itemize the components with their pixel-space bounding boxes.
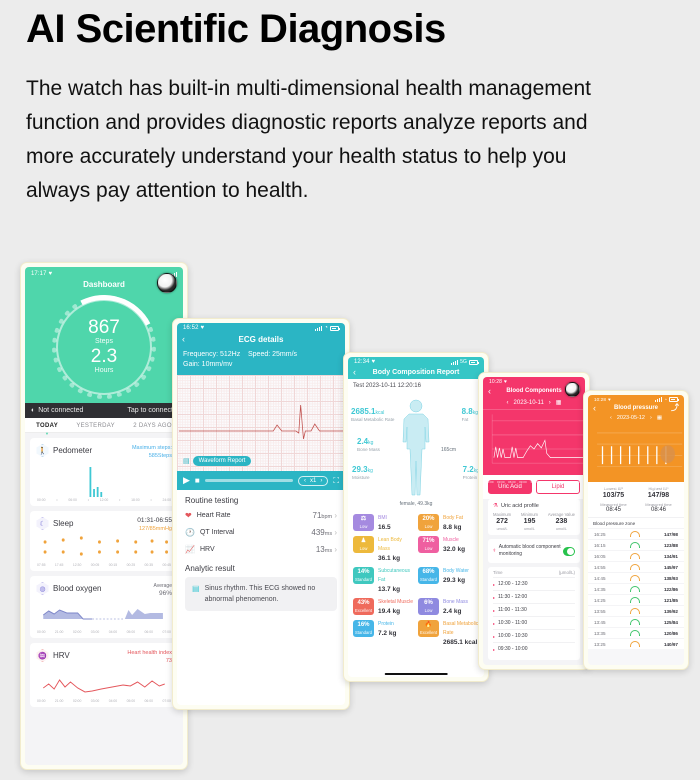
moisture-unit: kg: [368, 468, 373, 474]
axis-tick: 05:00: [127, 630, 136, 634]
blood-pressure-chart[interactable]: 00:00 03:00 06:00 09:00 12:00 15:00 18:0…: [588, 424, 684, 482]
table-row[interactable]: 16:25 147/98: [588, 528, 684, 539]
body-composition-header: 12:34 ♥ 5G ‹ Body Composition Report: [348, 357, 484, 379]
callout-fat: 8.8kg Fat: [462, 409, 478, 423]
hours-label: Hours: [95, 367, 114, 374]
axis-tick: 00:05: [91, 563, 100, 567]
body-water-name: Body Water: [443, 567, 469, 576]
metabolic-grade: Excellent: [418, 630, 439, 636]
axis-tick: 21:00: [55, 630, 64, 634]
blood-pressure-screen: 10:28 ♥ ◔ ‹ Blood pressure ⤴ ‹: [588, 395, 684, 665]
gauge-icon: [630, 575, 640, 581]
axis-tick: 00:00: [37, 630, 46, 634]
metrics-grid: ⚖Low BMI 16.5 20%Low Body Fat 8.8 kg: [348, 509, 484, 652]
sleep-range: 01:31-06:55: [137, 517, 172, 525]
steps-value: 867: [88, 318, 120, 338]
ecg-parameters: Frequency: 512Hz Speed: 25mm/s Gain: 10m…: [177, 347, 345, 375]
axis-tick: 00:15: [109, 563, 118, 567]
measurement-time-list: Time (μmol/L) 12:00 - 12:30 11:30 - 12:0…: [488, 567, 580, 660]
row-value: 123/88: [664, 543, 678, 548]
chart-x-axis: 00:00 03:00 06:00 09:00 12:00 15:00 18:0…: [483, 480, 585, 484]
hrv-chart: [36, 668, 172, 698]
body-figure-diagram: 2685.1kcal Basal Metabolic Rate 2.4kg Bo…: [348, 391, 484, 509]
fat-value: 8.8: [462, 407, 473, 416]
axis-tick: 05:00: [127, 699, 136, 703]
back-icon[interactable]: ‹: [488, 386, 491, 396]
navbar: ‹ ECG details: [177, 331, 345, 347]
table-row[interactable]: 13:35 120/86: [588, 627, 684, 638]
average-value: 238: [548, 517, 575, 527]
tab-today[interactable]: TODAY: [36, 423, 58, 429]
card-blood-oxygen[interactable]: ◍ Blood oxygen Average 96%: [30, 576, 178, 638]
axis-tick: 24:00: [574, 480, 582, 484]
navbar-title: Body Composition Report: [373, 369, 460, 376]
list-item[interactable]: 10:00 - 10:30: [493, 629, 575, 642]
lowest-bp-time: 08:45: [591, 507, 636, 513]
table-row[interactable]: 14:35 122/86: [588, 583, 684, 594]
connection-status: Not connected: [38, 407, 83, 414]
axis-tick: 12:00: [100, 498, 109, 502]
page-description: The watch has built-in multi-dimensional…: [26, 72, 626, 208]
row-value: 122/86: [664, 587, 678, 592]
skeletal-muscle-name: Skeletal Muscle: [378, 598, 413, 607]
back-icon[interactable]: ‹: [353, 367, 356, 377]
dashboard-screen: 17:17 ♥ Dashboard 867 Steps 2.3 Hours: [25, 267, 183, 765]
subcutaneous-fat-chip: 14%Standard: [353, 567, 374, 584]
list-item[interactable]: 11:00 - 11:30: [493, 603, 575, 616]
subcutaneous-fat-name: Subcutaneous Fat: [378, 567, 414, 585]
gauge-icon: [630, 630, 640, 636]
fat-label: Fat: [462, 417, 478, 424]
axis-dot: •: [119, 498, 120, 502]
test-timestamp: Test 2023-10-11 12:20:16: [348, 379, 484, 391]
gauge-icon: [630, 641, 640, 647]
calendar-icon[interactable]: ▦: [556, 399, 562, 406]
card-title-pedometer: Pedometer: [53, 446, 92, 455]
axis-tick: 09:00: [519, 480, 527, 484]
metabolic-value: 2685.1 kcal: [443, 638, 479, 647]
qt-interval-value: 439: [311, 528, 324, 537]
ecg-waveform-chart[interactable]: ▤ Waveform Report: [177, 375, 345, 471]
axis-tick: 21:00: [674, 487, 681, 490]
hrv-value: 13: [316, 545, 325, 554]
phone-ecg: 16:52 ♥ ◔ ‹ ECG details Frequency: 512Hz: [172, 318, 350, 710]
day-tabs[interactable]: TODAY YESTERDAY 2 DAYS AGO: [25, 418, 183, 433]
metric-body-fat[interactable]: 20%Low Body Fat 8.8 kg: [418, 514, 479, 532]
axis-tick: 06:00: [145, 699, 154, 703]
axis-dot: •: [150, 498, 151, 502]
row-time: 16:15: [594, 543, 606, 548]
table-row[interactable]: 13:45 125/84: [588, 616, 684, 627]
table-row[interactable]: 13:25 140/97: [588, 638, 684, 649]
current-date: 2023-05-12: [617, 415, 645, 421]
gauge-icon: [630, 531, 640, 537]
bone-mass-chip: 6%Low: [418, 598, 439, 615]
body-caption: female, 49.3kg: [348, 501, 484, 507]
body-fat-grade: Low: [418, 524, 439, 530]
minimum-unit: umol/L: [521, 527, 538, 531]
axis-tick: 04:00: [109, 630, 118, 634]
axis-tick: 18:00: [131, 498, 140, 502]
blood-oxygen-axis: 00:00 21:00 02:00 03:00 04:00 05:00 06:0…: [36, 629, 172, 634]
highest-bp-value: 147/98: [636, 491, 681, 500]
moisture-label: Moisture: [352, 475, 373, 482]
axis-tick: 12:30: [73, 563, 82, 567]
chart-x-axis: 00:00 03:00 06:00 09:00 12:00 15:00 18:0…: [588, 487, 684, 490]
hours-value: 2.3: [91, 347, 117, 367]
connection-bar[interactable]: ◐ Not connected Tap to connect>: [25, 403, 183, 418]
qt-interval-unit: ms: [325, 531, 332, 537]
navbar-title: ECG details: [239, 335, 284, 344]
axis-tick: 03:00: [91, 699, 100, 703]
body-water-percent: 68%: [418, 567, 439, 577]
card-hrv[interactable]: ♒ HRV Heart health index 73 00:00 21:00: [30, 643, 178, 707]
skeletal-muscle-percent: 43%: [353, 598, 374, 608]
next-speed-button[interactable]: ›: [320, 478, 322, 484]
axis-tick: 03:00: [497, 480, 505, 484]
speed-control[interactable]: ‹ x1 ›: [298, 476, 328, 486]
hrv-unit: ms: [325, 548, 332, 554]
lowest-bp-block: Lowest BP 103/75 Measured time 08:45: [591, 486, 636, 513]
card-title-hrv: HRV: [53, 651, 70, 660]
pedometer-axis: 00:00 • 06:00 • 12:00 • 18:00 • 24:00: [36, 497, 172, 502]
axis-tick: 03:00: [91, 630, 100, 634]
bmi-grade: Low: [353, 524, 374, 530]
row-value: 121/85: [664, 598, 678, 603]
axis-tick: 04:00: [109, 699, 118, 703]
body-water-value: 29.3 kg: [443, 576, 469, 585]
profile-stats: Maximum 272 umol/L Minimum 195 umol/L Av…: [493, 512, 575, 531]
highest-bp-time: 08:46: [636, 507, 681, 513]
sleep-axis: 07:55 17:45 12:30 00:05 00:15 00:25 00:3…: [36, 562, 172, 567]
bone-mass-value: 2.4: [357, 437, 368, 446]
ecg-gain: Gain: 10mm/mv: [183, 360, 339, 370]
navbar-title: Blood Components: [506, 388, 561, 394]
list-item[interactable]: 12:00 - 12:30: [493, 577, 575, 590]
body-composition-screen: 12:34 ♥ 5G ‹ Body Composition Report Tes…: [348, 357, 484, 677]
table-row[interactable]: 14:55 145/97: [588, 561, 684, 572]
camera-punch-hole: [157, 273, 177, 293]
list-header: Time (μmol/L): [493, 570, 575, 577]
bmi-name: BMI: [378, 514, 391, 523]
metric-skeletal-muscle[interactable]: 43%Excellent Skeletal Muscle 19.4 kg: [353, 598, 414, 616]
row-value: 147/98: [664, 532, 678, 537]
maximum-value: 272: [493, 517, 511, 527]
next-date-button[interactable]: ›: [650, 415, 652, 421]
share-icon[interactable]: ⤴: [671, 402, 679, 413]
row-value: 145/97: [664, 565, 678, 570]
body-water-chip: 68%Standard: [418, 567, 439, 584]
prev-date-button[interactable]: ‹: [507, 400, 509, 406]
uric-acid-profile-panel: ⚗ Uric acid profile Maximum 272 umol/L M…: [488, 499, 580, 535]
row-value: 134/91: [664, 554, 678, 559]
heart-rate-label: Heart Rate: [197, 512, 231, 519]
body-silhouette-icon: [396, 397, 436, 497]
navbar: ‹ Body Composition Report: [348, 365, 484, 379]
row-value: 138/93: [664, 576, 678, 581]
phone-blood-pressure: 10:28 ♥ ◔ ‹ Blood pressure ⤴ ‹: [583, 390, 689, 670]
spo2-meta-value: 96%: [153, 590, 172, 598]
card-pedometer[interactable]: 🚶 Pedometer Maximum steps: 585Steps: [30, 438, 178, 506]
bmi-value: 16.5: [378, 523, 391, 532]
row-time: 16:25: [594, 532, 606, 537]
axis-tick: 21:00: [55, 699, 64, 703]
navbar-title: Dashboard: [83, 280, 125, 289]
ecg-frequency: Frequency: 512Hz: [183, 351, 240, 358]
blood-components-screen: 10:28 ♥ ‹ Blood Components ⤴ ‹ 2023-10-1…: [483, 377, 585, 665]
row-value: 120/86: [664, 631, 678, 636]
row-time: 14:35: [594, 587, 606, 592]
hrv-icon: ♒: [36, 649, 49, 662]
axis-tick: 02:00: [73, 630, 82, 634]
blood-oxygen-chart: [36, 601, 172, 629]
battery-icon: [330, 326, 339, 331]
average-unit: umol/L: [548, 527, 575, 531]
auto-monitoring-toggle[interactable]: [563, 547, 575, 556]
hrv-meta-label: Heart health index: [127, 649, 172, 657]
prev-date-button[interactable]: ‹: [610, 415, 612, 421]
subcutaneous-fat-value: 13.7 kg: [378, 585, 414, 594]
gauge-icon: [630, 619, 640, 625]
axis-tick: 15:00: [651, 487, 658, 490]
stat-maximum: Maximum 272 umol/L: [493, 512, 511, 531]
phone-body-composition: 12:34 ♥ 5G ‹ Body Composition Report Tes…: [343, 352, 489, 682]
row-value: 139/92: [664, 609, 678, 614]
signal-icon: [451, 360, 458, 365]
camera-punch-hole: [565, 382, 580, 397]
back-icon[interactable]: ‹: [182, 334, 185, 344]
ecg-speed: Speed: 25mm/s: [248, 351, 297, 358]
axis-tick: 00:00: [37, 498, 46, 502]
ecg-screen: 16:52 ♥ ◔ ‹ ECG details Frequency: 512Hz: [177, 323, 345, 705]
date-selector[interactable]: ‹ 2023-05-12 › ▦: [588, 413, 684, 424]
row-hrv[interactable]: 📈 HRV 13ms: [177, 541, 345, 558]
play-icon[interactable]: ▶: [183, 475, 190, 486]
axis-tick: 17:45: [55, 563, 64, 567]
hrv-label: HRV: [200, 546, 215, 553]
waveform-report-row[interactable]: ▤ Waveform Report: [183, 456, 251, 466]
maximum-unit: umol/L: [493, 527, 511, 531]
unit-column-header: (μmol/L): [559, 570, 575, 575]
report-icon: ▤: [183, 457, 190, 465]
metabolic-icon: 🔥: [418, 620, 439, 630]
row-time: 13:45: [594, 620, 606, 625]
muscle-chip: 71%Low: [418, 536, 439, 553]
lean-mass-chip: ♟Low: [353, 536, 374, 553]
axis-tick: 24:00: [163, 498, 172, 502]
table-row[interactable]: 14:25 121/85: [588, 594, 684, 605]
zone-title: Blood pressure zone: [588, 517, 684, 528]
pedometer-icon: 🚶: [36, 444, 49, 457]
stat-minimum: Minimum 195 umol/L: [521, 512, 538, 531]
prev-speed-button[interactable]: ‹: [304, 478, 306, 484]
subcutaneous-fat-grade: Standard: [353, 577, 374, 583]
status-bar: 10:28 ♥ ◔: [588, 395, 684, 402]
height-label: 165cm: [441, 447, 456, 454]
bmr-label: Basal Metabolic Rate: [351, 417, 394, 424]
steps-label: Steps: [95, 338, 113, 345]
row-time: 16:05: [594, 554, 606, 559]
callout-protein: 7.2kg Protein: [463, 467, 479, 481]
lean-mass-grade: Low: [353, 546, 374, 552]
auto-monitoring-row[interactable]: ⚕ Automatic blood component monitoring: [488, 539, 580, 563]
row-time: 13:55: [594, 609, 606, 614]
table-row[interactable]: 14:45 138/93: [588, 572, 684, 583]
gauge-icon: [630, 597, 640, 603]
phone-blood-components: 10:28 ♥ ‹ Blood Components ⤴ ‹ 2023-10-1…: [478, 372, 590, 670]
blood-oxygen-icon: ◍: [36, 582, 49, 595]
lean-mass-value: 36.1 kg: [378, 554, 414, 563]
muscle-value: 32.0 kg: [443, 545, 465, 554]
row-time: 13:35: [594, 631, 606, 636]
metric-body-water[interactable]: 68%Standard Body Water 29.3 kg: [418, 567, 479, 594]
bmr-value: 2685.1: [351, 407, 375, 416]
moisture-value: 29.3: [352, 465, 368, 474]
skeletal-muscle-chip: 43%Excellent: [353, 598, 374, 615]
protein-label: Protein: [463, 475, 479, 482]
back-icon[interactable]: ‹: [593, 403, 596, 413]
muscle-percent: 71%: [418, 536, 439, 546]
bone-mass-name: Bone Mass: [443, 598, 468, 607]
bone-mass-unit: kg: [368, 440, 373, 446]
muscle-name: Muscle: [443, 536, 465, 545]
speed-label: x1: [310, 478, 316, 484]
axis-tick: 18:00: [663, 487, 670, 490]
qt-interval-label: QT Interval: [200, 529, 235, 536]
auto-monitoring-label: Automatic blood component monitoring: [499, 544, 563, 558]
qt-interval-icon: 🕐: [185, 528, 195, 537]
body-fat-chip: 20%Low: [418, 514, 439, 531]
body-fat-percent: 20%: [418, 514, 439, 524]
table-row[interactable]: 16:15 123/88: [588, 539, 684, 550]
hrv-icon: 📈: [185, 545, 195, 554]
table-row[interactable]: 16:05 134/91: [588, 550, 684, 561]
list-item[interactable]: 10:30 - 11:00: [493, 616, 575, 629]
metric-bmi[interactable]: ⚖Low BMI 16.5: [353, 514, 414, 532]
callout-bone-mass: 2.4kg Bone Mass: [357, 439, 380, 453]
monitor-icon: ⚕: [493, 548, 496, 555]
body-fat-value: 8.8 kg: [443, 523, 463, 532]
list-item[interactable]: 11:30 - 12:00: [493, 590, 575, 603]
axis-dot: •: [56, 498, 57, 502]
tab-yesterday[interactable]: YESTERDAY: [76, 423, 115, 429]
stop-icon[interactable]: ■: [195, 476, 200, 485]
row-time: 14:45: [594, 576, 606, 581]
axis-tick: 07:00: [162, 699, 171, 703]
metric-muscle[interactable]: 71%Low Muscle 32.0 kg: [418, 536, 479, 563]
card-title-blood-oxygen: Blood oxygen: [53, 584, 101, 593]
tab-2-days-ago[interactable]: 2 DAYS AGO: [133, 423, 172, 429]
gauge-icon: [630, 608, 640, 614]
protein-chip: 16%Standard: [353, 620, 374, 637]
analytic-result-box: ▤ Sinus rhythm. This ECG showed no abnor…: [185, 577, 337, 611]
bone-mass-grade: Low: [418, 608, 439, 614]
minimum-value: 195: [521, 517, 538, 527]
spo2-meta-label: Average: [153, 582, 172, 590]
card-sleep[interactable]: ☾ Sleep 01:31-06:55 127/85mmHg: [30, 511, 178, 571]
metric-lean-body-mass[interactable]: ♟Low Lean Body Mass 36.1 kg: [353, 536, 414, 563]
row-heart-rate[interactable]: ❤ Heart Rate 71bpm: [177, 507, 345, 524]
axis-dot: •: [88, 498, 89, 502]
row-time: 14:25: [594, 598, 606, 603]
lean-mass-icon: ♟: [353, 536, 374, 546]
axis-tick: 02:00: [73, 699, 82, 703]
signal-icon: [315, 326, 322, 331]
report-icon: ▤: [192, 583, 200, 605]
gauge-icon: [630, 553, 640, 559]
uric-acid-chart[interactable]: 00:00 03:00 06:00 09:00 12:00 15:00 18:0…: [483, 409, 585, 475]
current-date: 2023-10-11: [514, 400, 544, 406]
calendar-icon[interactable]: ▦: [657, 415, 662, 421]
status-bar: 16:52 ♥ ◔: [177, 323, 345, 331]
steps-ring: 867 Steps 2.3 Hours: [56, 299, 152, 395]
table-row[interactable]: 13:55 139/92: [588, 605, 684, 616]
routine-testing-title: Routine testing: [177, 490, 345, 507]
steps-ring-widget[interactable]: 867 Steps 2.3 Hours: [25, 291, 183, 403]
gauge-icon: [630, 542, 640, 548]
metric-basal-metabolic-rate[interactable]: 🔥Excellent Basal Metabolic Rate 2685.1 k…: [418, 620, 479, 647]
callout-bmr: 2685.1kcal Basal Metabolic Rate: [351, 409, 394, 423]
bluetooth-icon: ◐: [31, 407, 35, 414]
axis-tick: 03:00: [603, 487, 610, 490]
bmi-icon: ⚖: [353, 514, 374, 524]
list-item[interactable]: 09:30 - 10:00: [493, 642, 575, 655]
axis-tick: 21:00: [563, 480, 571, 484]
progress-track[interactable]: [205, 479, 293, 482]
heart-rate-icon: ❤: [185, 511, 192, 520]
body-water-grade: Standard: [418, 577, 439, 583]
hrv-meta-value: 73: [127, 657, 172, 665]
lean-mass-name: Lean Body Mass: [378, 536, 414, 554]
highest-bp-block: Highest BP 147/98 Measured time 08:46: [636, 486, 681, 513]
metabolic-name: Basal Metabolic Rate: [443, 620, 479, 638]
metric-protein[interactable]: 16%Standard Protein 7.2 kg: [353, 620, 414, 647]
card-title-sleep: Sleep: [53, 519, 73, 528]
next-date-button[interactable]: ›: [549, 400, 551, 406]
muscle-grade: Low: [418, 546, 439, 552]
axis-tick: 07:00: [162, 630, 171, 634]
protein-grade: Standard: [353, 630, 374, 636]
home-indicator: [385, 673, 448, 675]
pedometer-chart: [36, 463, 172, 497]
sleep-icon: ☾: [36, 517, 49, 530]
profile-header: ⚗ Uric acid profile: [493, 503, 575, 509]
ecg-player[interactable]: ▶ ■ ‹ x1 › ⛶: [177, 471, 345, 490]
protein-value: 7.2 kg: [378, 629, 396, 638]
pedometer-meta-value: 585Steps: [132, 452, 172, 460]
row-qt-interval[interactable]: 🕐 QT Interval 439ms: [177, 524, 345, 541]
metric-bone-mass[interactable]: 6%Low Bone Mass 2.4 kg: [418, 598, 479, 616]
metric-subcutaneous-fat[interactable]: 14%Standard Subcutaneous Fat 13.7 kg: [353, 567, 414, 594]
lowest-bp-value: 103/75: [591, 491, 636, 500]
profile-title: Uric acid profile: [501, 503, 539, 509]
date-selector[interactable]: ‹ 2023-10-11 › ▦: [483, 397, 585, 409]
connect-action[interactable]: Tap to connect>: [127, 407, 177, 414]
axis-tick: 09:00: [627, 487, 634, 490]
fullscreen-icon[interactable]: ⛶: [333, 476, 339, 486]
axis-tick: 00:00: [37, 699, 46, 703]
body-fat-name: Body Fat: [443, 514, 463, 523]
phone-dashboard: 17:17 ♥ Dashboard 867 Steps 2.3 Hours: [20, 262, 188, 770]
axis-tick: 00:25: [127, 563, 136, 567]
waveform-report-button[interactable]: Waveform Report: [193, 456, 252, 466]
promo-page: AI Scientific Diagnosis The watch has bu…: [0, 0, 700, 780]
gauge-icon: [630, 586, 640, 592]
pedometer-meta-label: Maximum steps:: [132, 444, 172, 452]
axis-tick: 12:00: [530, 480, 538, 484]
time-column-header: Time: [493, 570, 503, 575]
heart-rate-unit: bpm: [321, 514, 332, 520]
